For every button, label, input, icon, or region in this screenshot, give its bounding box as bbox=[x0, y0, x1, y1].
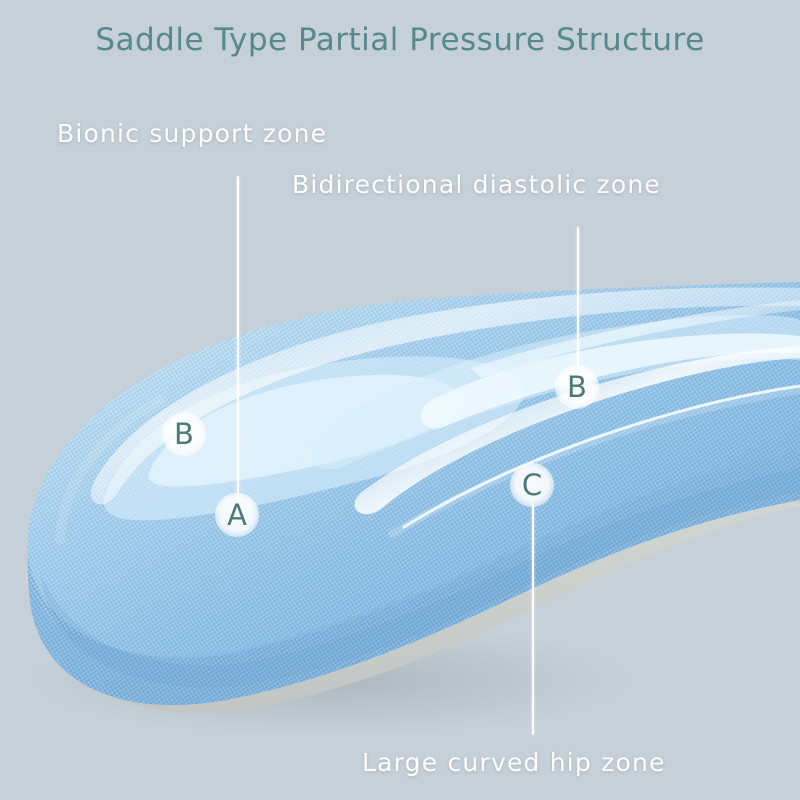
zone-badge-b-right: B bbox=[555, 365, 599, 409]
zone-badge-a: A bbox=[215, 493, 259, 537]
product-infographic: Saddle Type Partial Pressure Structure B… bbox=[0, 0, 800, 800]
page-title: Saddle Type Partial Pressure Structure bbox=[0, 22, 800, 58]
callout-label-bionic-support-zone: Bionic support zone bbox=[57, 119, 327, 148]
zone-badge-b-left: B bbox=[162, 412, 206, 456]
leader-line-large-curved-hip-zone bbox=[532, 503, 534, 735]
leader-line-bionic-support-zone bbox=[237, 176, 239, 501]
callout-label-bidirectional-diastolic-zone: Bidirectional diastolic zone bbox=[292, 170, 661, 199]
leader-line-bidirectional-diastolic-zone bbox=[577, 227, 579, 372]
callout-label-large-curved-hip-zone: Large curved hip zone bbox=[362, 748, 666, 777]
zone-badge-c: C bbox=[510, 463, 554, 507]
